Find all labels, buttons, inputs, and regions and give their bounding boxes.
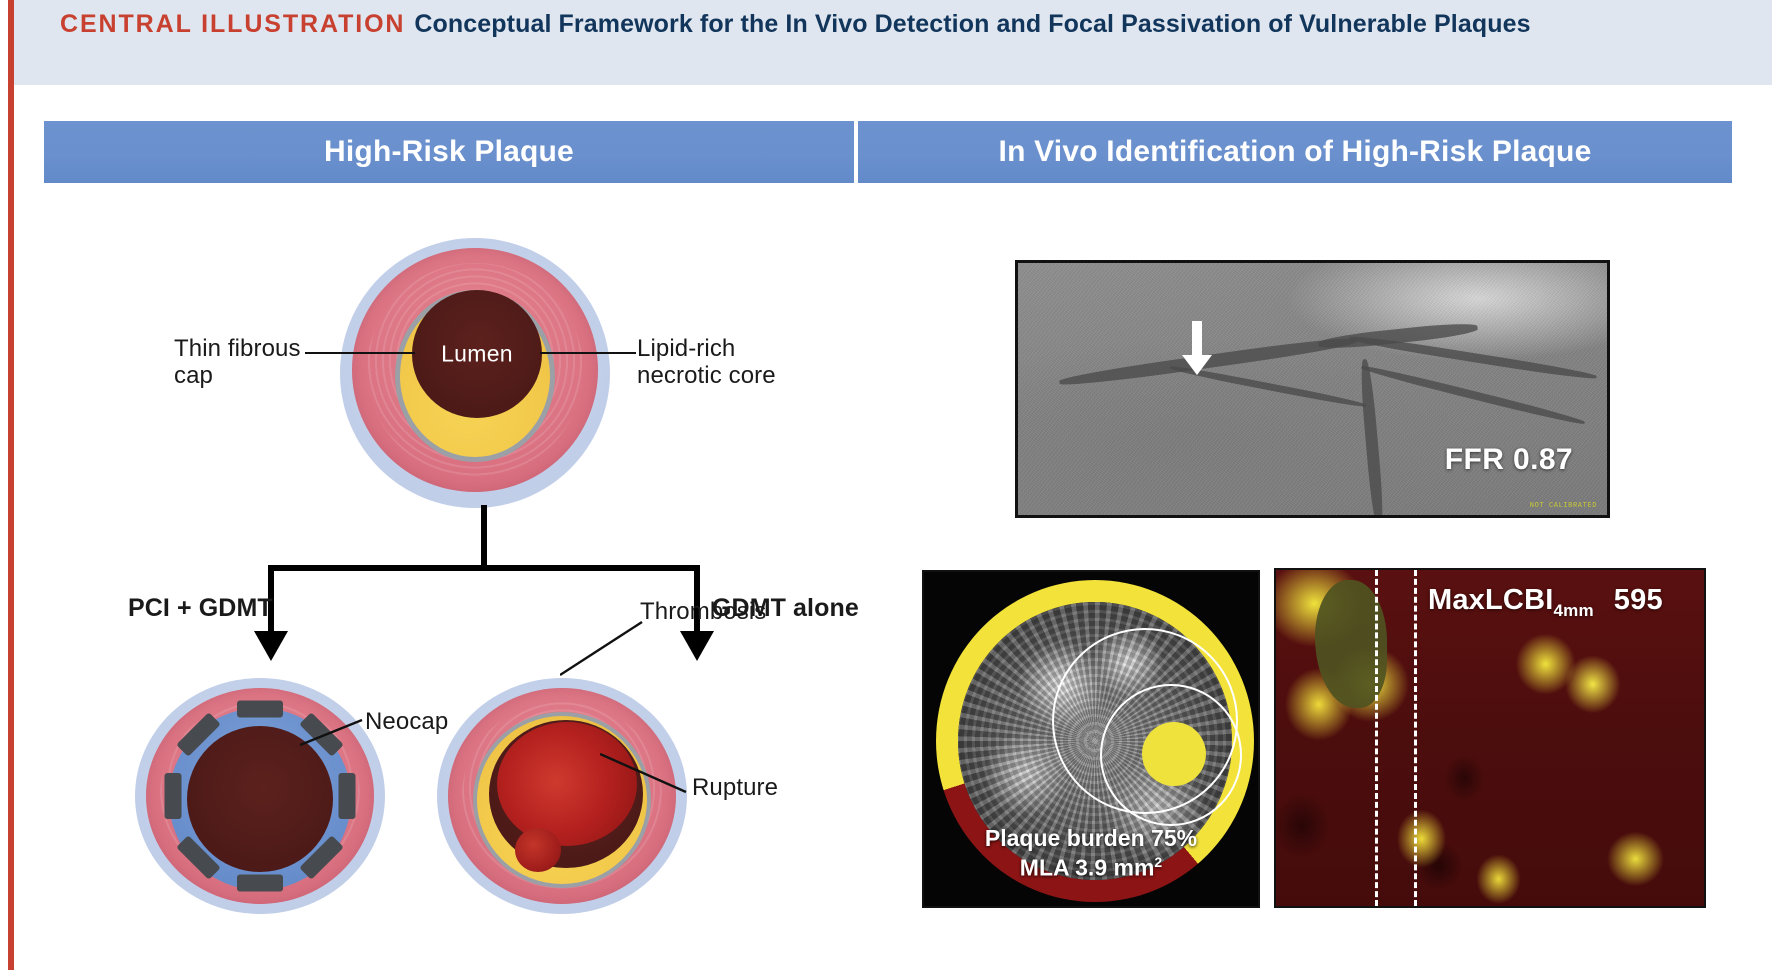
lipid-rich-necrotic-core-label: Lipid-rich necrotic core (637, 335, 776, 389)
rupture-leader-line (600, 752, 692, 802)
flow-stem-vertical (481, 505, 487, 568)
lipid-rich-core-leader-line (540, 352, 636, 354)
page-title: CENTRAL ILLUSTRATIONConceptual Framework… (60, 8, 1700, 40)
mla-value: MLA 3.9 mm2 (924, 853, 1258, 884)
header-band: CENTRAL ILLUSTRATIONConceptual Framework… (14, 0, 1772, 85)
flow-split-horizontal (268, 565, 700, 571)
panel-header-in-vivo-identification: In Vivo Identification of High-Risk Plaq… (858, 121, 1732, 183)
maxlcbi-readout: MaxLCBI4mm595 (1428, 584, 1663, 621)
thin-fibrous-cap-leader-line (305, 352, 415, 354)
panel-header-left-label: High-Risk Plaque (324, 135, 574, 169)
flow-arrow-right-head (680, 631, 714, 661)
panel-header-right-label: In Vivo Identification of High-Risk Plaq… (999, 135, 1592, 169)
neocap-leader-line (300, 700, 370, 750)
ivus-measurement-text: Plaque burden 75% MLA 3.9 mm2 (924, 824, 1258, 884)
page-title-text: Conceptual Framework for the In Vivo Det… (414, 10, 1530, 38)
high-risk-plaque-cross-section: Lumen (340, 238, 610, 508)
rupture-site (515, 828, 561, 872)
left-accent-rail (8, 0, 14, 970)
ivus-catheter-marker (1142, 722, 1206, 786)
neocap-label: Neocap (365, 708, 448, 735)
angiogram-noise-texture (1018, 263, 1607, 515)
ivus-cross-section-image: Plaque burden 75% MLA 3.9 mm2 (922, 570, 1260, 908)
ffr-value-label: FFR 0.87 (1445, 443, 1573, 477)
lesion-pointer-arrow-icon (1178, 321, 1218, 376)
lcbi-window-marker-left (1375, 570, 1378, 906)
rupture-label: Rupture (692, 774, 778, 801)
angiogram-calibration-stamp: NOT CALIBRATED (1530, 502, 1597, 510)
central-illustration-tag: CENTRAL ILLUSTRATION (60, 10, 405, 38)
lumen-region: Lumen (412, 290, 542, 418)
lcbi-window-marker-right (1414, 570, 1417, 906)
pci-gdmt-label: PCI + GDMT (128, 594, 273, 622)
panel-header-high-risk-plaque: High-Risk Plaque (44, 121, 854, 183)
thrombosis-label: Thrombosis (640, 598, 766, 625)
nirs-chemogram-image: MaxLCBI4mm595 (1274, 568, 1706, 908)
lumen-label: Lumen (412, 341, 542, 368)
plaque-burden-value: Plaque burden 75% (924, 824, 1258, 854)
thrombosis-leader-line (560, 620, 650, 680)
flow-arrow-left-head (254, 631, 288, 661)
central-illustration-figure: CENTRAL ILLUSTRATIONConceptual Framework… (0, 0, 1772, 970)
coronary-angiogram-image: FFR 0.87 NOT CALIBRATED (1015, 260, 1610, 518)
thin-fibrous-cap-label: Thin fibrous cap (174, 335, 301, 389)
